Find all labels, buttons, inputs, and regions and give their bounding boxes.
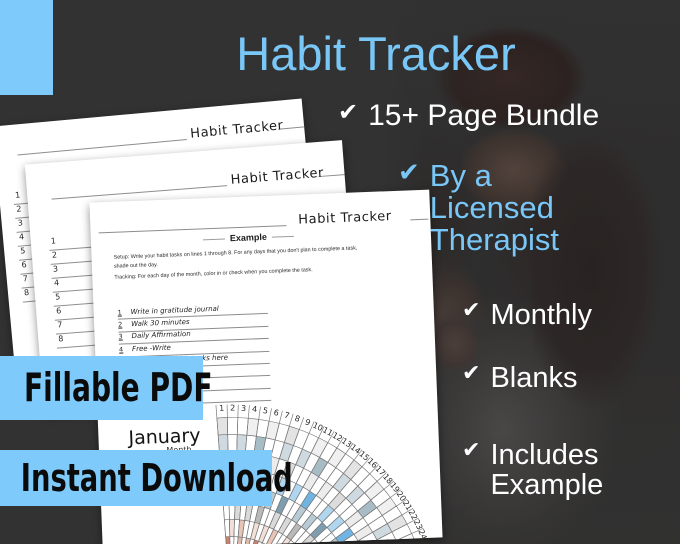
task-number: 1: [118, 308, 122, 316]
accent-corner-block: [0, 0, 53, 95]
check-icon: ✔: [462, 440, 480, 462]
sheet-title-back: Habit Tracker: [190, 118, 285, 141]
feature-bullet-monthly: ✔ Monthly: [462, 300, 592, 330]
check-icon: ✔: [338, 100, 358, 124]
task-number: 4: [119, 345, 123, 353]
check-icon: ✔: [462, 363, 480, 385]
svg-text:3: 3: [241, 404, 247, 413]
svg-text:7: 7: [283, 411, 290, 421]
task-text: Daily Affirmation: [131, 330, 190, 340]
example-label: Example: [230, 232, 267, 243]
feature-label: By a Licensed Therapist: [430, 160, 559, 257]
svg-text:5: 5: [262, 406, 269, 416]
sheet-title-front: Habit Tracker: [298, 209, 392, 228]
radial-habit-chart[interactable]: 1234567891011121314151617181920212223242…: [212, 305, 443, 544]
check-icon: ✔: [398, 160, 420, 186]
feature-bullet-blanks: ✔ Blanks: [462, 363, 577, 393]
svg-text:8: 8: [294, 414, 302, 424]
sheet-title-middle: Habit Tracker: [230, 166, 324, 188]
feature-bullet-includes-example: ✔ Includes Example: [462, 440, 603, 500]
feature-label: 15+ Page Bundle: [368, 100, 599, 131]
feature-label: Monthly: [490, 300, 592, 330]
task-number: 3: [118, 333, 122, 341]
feature-bullet-page-bundle: ✔ 15+ Page Bundle: [338, 100, 599, 131]
check-icon: ✔: [462, 300, 480, 322]
svg-text:4: 4: [252, 405, 258, 415]
feature-bullet-licensed-therapist: ✔ By a Licensed Therapist: [398, 160, 559, 257]
product-listing-image: Habit Tracker 12 34 56 78 Habit Tracker …: [0, 0, 680, 544]
badge-label: Instant Download: [0, 456, 293, 500]
task-text: Write in gratitude journal: [131, 304, 219, 315]
divider-dash-left: [203, 238, 225, 240]
divider-dash-right: [272, 235, 294, 237]
example-label-row: Example: [203, 231, 294, 244]
task-text: Walk 30 minutes: [131, 318, 190, 328]
svg-text:6: 6: [273, 408, 280, 418]
task-number: 2: [118, 320, 122, 328]
badge-fillable-pdf: Fillable PDF: [0, 356, 203, 420]
badge-label: Fillable PDF: [0, 366, 213, 411]
svg-text:2: 2: [230, 403, 235, 412]
badge-instant-download: Instant Download: [0, 450, 272, 506]
page-title: Habit Tracker: [196, 26, 556, 81]
feature-label: Blanks: [490, 363, 577, 393]
task-text: Free -Write: [132, 343, 171, 352]
feature-label: Includes Example: [490, 440, 603, 500]
svg-text:9: 9: [304, 417, 312, 427]
svg-text:1: 1: [219, 404, 225, 413]
